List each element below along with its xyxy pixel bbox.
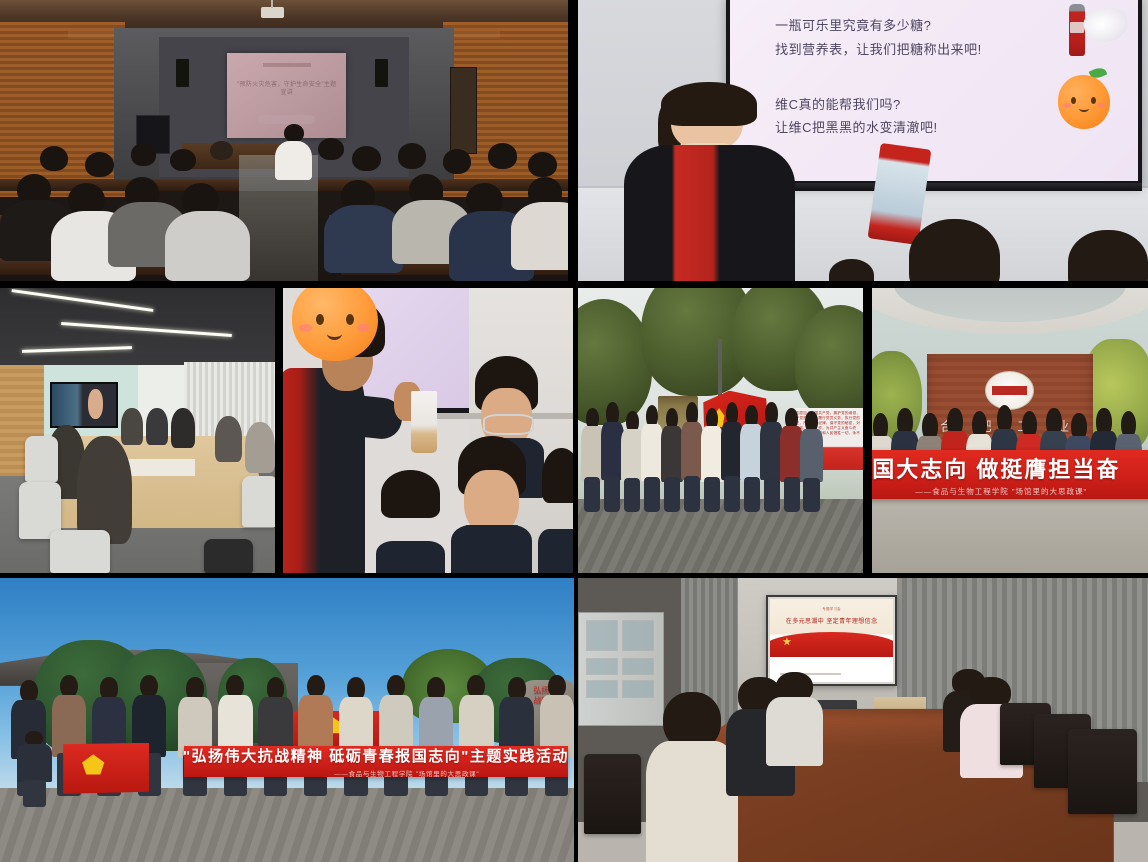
photo-panel-campus-gate-group: 合 肥 工 业 大 学 报国强国大志向 做挺膺担当奋 ——食品与生物工程学院 "… <box>872 288 1148 573</box>
child-front <box>451 436 532 573</box>
child-side <box>538 448 573 573</box>
seminar-room-photo <box>0 288 275 573</box>
audience-child-2 <box>1068 230 1148 281</box>
lecture-slide-title: "预防火灾危害，守护生命安全"主题宣讲 <box>234 81 339 97</box>
meeting-attendee-1 <box>646 692 737 862</box>
party-flag <box>63 743 149 794</box>
memorial-banner-sub-text: ——食品与生物工程学院 "场馆里的大思政课" <box>334 768 479 778</box>
slide-subtitle: 专题学习会 <box>775 606 888 611</box>
side-door <box>450 67 478 153</box>
attendee-7 <box>77 436 132 544</box>
slide-line-2: 找到营养表，让我们把糖称出来吧! <box>775 39 982 58</box>
audience-child-1 <box>909 219 1000 281</box>
orange-mascot-icon <box>1058 75 1110 129</box>
chair-1 <box>25 436 58 482</box>
photo-panel-lecture-hall: "预防火灾危害，守护生命安全"主题宣讲 <box>0 0 568 281</box>
chair-3 <box>50 530 111 573</box>
gate-group-banner: 报国强国大志向 做挺膺担当奋 ——食品与生物工程学院 "场馆里的大思政课" <box>872 450 1148 498</box>
speaker-right-icon <box>375 59 388 87</box>
chair-4 <box>242 476 275 527</box>
memorial-person-kneeling <box>17 731 51 805</box>
university-seal-icon <box>985 371 1034 410</box>
chair-5 <box>204 539 254 573</box>
attendee-1 <box>121 408 143 445</box>
slide-line-1: 一瓶可乐里究竟有多少糖? <box>775 15 931 34</box>
attendee-3 <box>171 408 196 448</box>
sugar-scoop-icon <box>1081 3 1131 45</box>
science-class-photo: 一瓶可乐里究竟有多少糖? 找到营养表，让我们把糖称出来吧! 维C真的能帮我们吗?… <box>578 0 1148 281</box>
gate-banner-main-text: 报国强国大志向 做挺膺担当奋 <box>872 452 1148 484</box>
photo-collage: "预防火灾危害，守护生命安全"主题宣讲 <box>0 0 1148 862</box>
volunteer-experiment-photo <box>283 288 573 573</box>
photo-panel-memorial-group: 弘扬抗战精神 "弘扬伟大抗战精神 砥砺青春报国志向"主题实践活动 <box>0 578 574 862</box>
photo-panel-science-class: 一瓶可乐里究竟有多少糖? 找到营养表，让我们把糖称出来吧! 维C真的能帮我们吗?… <box>578 0 1148 281</box>
ceiling-projector-icon <box>261 7 284 18</box>
memorial-group-photo: 弘扬抗战精神 "弘扬伟大抗战精神 砥砺青春报国志向"主题实践活动 <box>0 578 574 862</box>
remote-speaker-avatar <box>88 389 103 419</box>
slide-line-4: 让维C把黑黑的水变清澈吧! <box>775 117 938 136</box>
photo-panel-oath-ceremony: 我志愿加入中国共产党，拥护党的纲领，遵守党的章程，履行党员义务，执行党的决定，严… <box>578 288 863 573</box>
lecture-hall-photo: "预防火灾危害，守护生命安全"主题宣讲 <box>0 0 568 281</box>
participant-12 <box>800 411 823 511</box>
attendee-5 <box>245 422 275 473</box>
child-back <box>376 470 446 573</box>
eyeglasses-icon <box>483 414 534 435</box>
oath-ceremony-photo: 我志愿加入中国共产党，拥护党的纲领，遵守党的章程，履行党员义务，执行党的决定，严… <box>578 288 863 573</box>
meeting-chair-3 <box>1068 729 1136 814</box>
memorial-banner: "弘扬伟大抗战精神 砥砺青春报国志向"主题实践活动 ——食品与生物工程学院 "场… <box>184 746 569 777</box>
meeting-attendee-3 <box>766 672 823 763</box>
conference-room-photo: 专题学习会 在多元思潮中 坚定青年理想信念 <box>578 578 1148 862</box>
slide-title: 在多元思潮中 坚定青年理想信念 <box>775 616 888 625</box>
speaker-left-icon <box>176 59 189 87</box>
paper-cup <box>411 391 437 454</box>
photo-panel-seminar-room <box>0 288 275 573</box>
attendee-2 <box>146 408 168 445</box>
memorial-banner-main-text: "弘扬伟大抗战精神 砥砺青春报国志向"主题实践活动 <box>183 745 569 766</box>
cola-bottle-icon <box>1069 4 1085 56</box>
video-conference-display <box>50 382 119 428</box>
photo-panel-conference-room: 专题学习会 在多元思潮中 坚定青年理想信念 <box>578 578 1148 862</box>
meeting-chair-4 <box>584 754 641 834</box>
student-presenter <box>624 90 795 281</box>
gate-banner-sub-text: ——食品与生物工程学院 "场馆里的大思政课" <box>872 486 1148 497</box>
photo-panel-volunteer-experiment <box>283 288 573 573</box>
study-session-slide: 专题学习会 在多元思潮中 坚定青年理想信念 <box>770 599 893 682</box>
campus-gate-group-photo: 合 肥 工 业 大 学 报国强国大志向 做挺膺担当奋 ——食品与生物工程学院 "… <box>872 288 1148 573</box>
attendee-4 <box>215 416 243 462</box>
lecture-slide-button <box>258 115 315 124</box>
